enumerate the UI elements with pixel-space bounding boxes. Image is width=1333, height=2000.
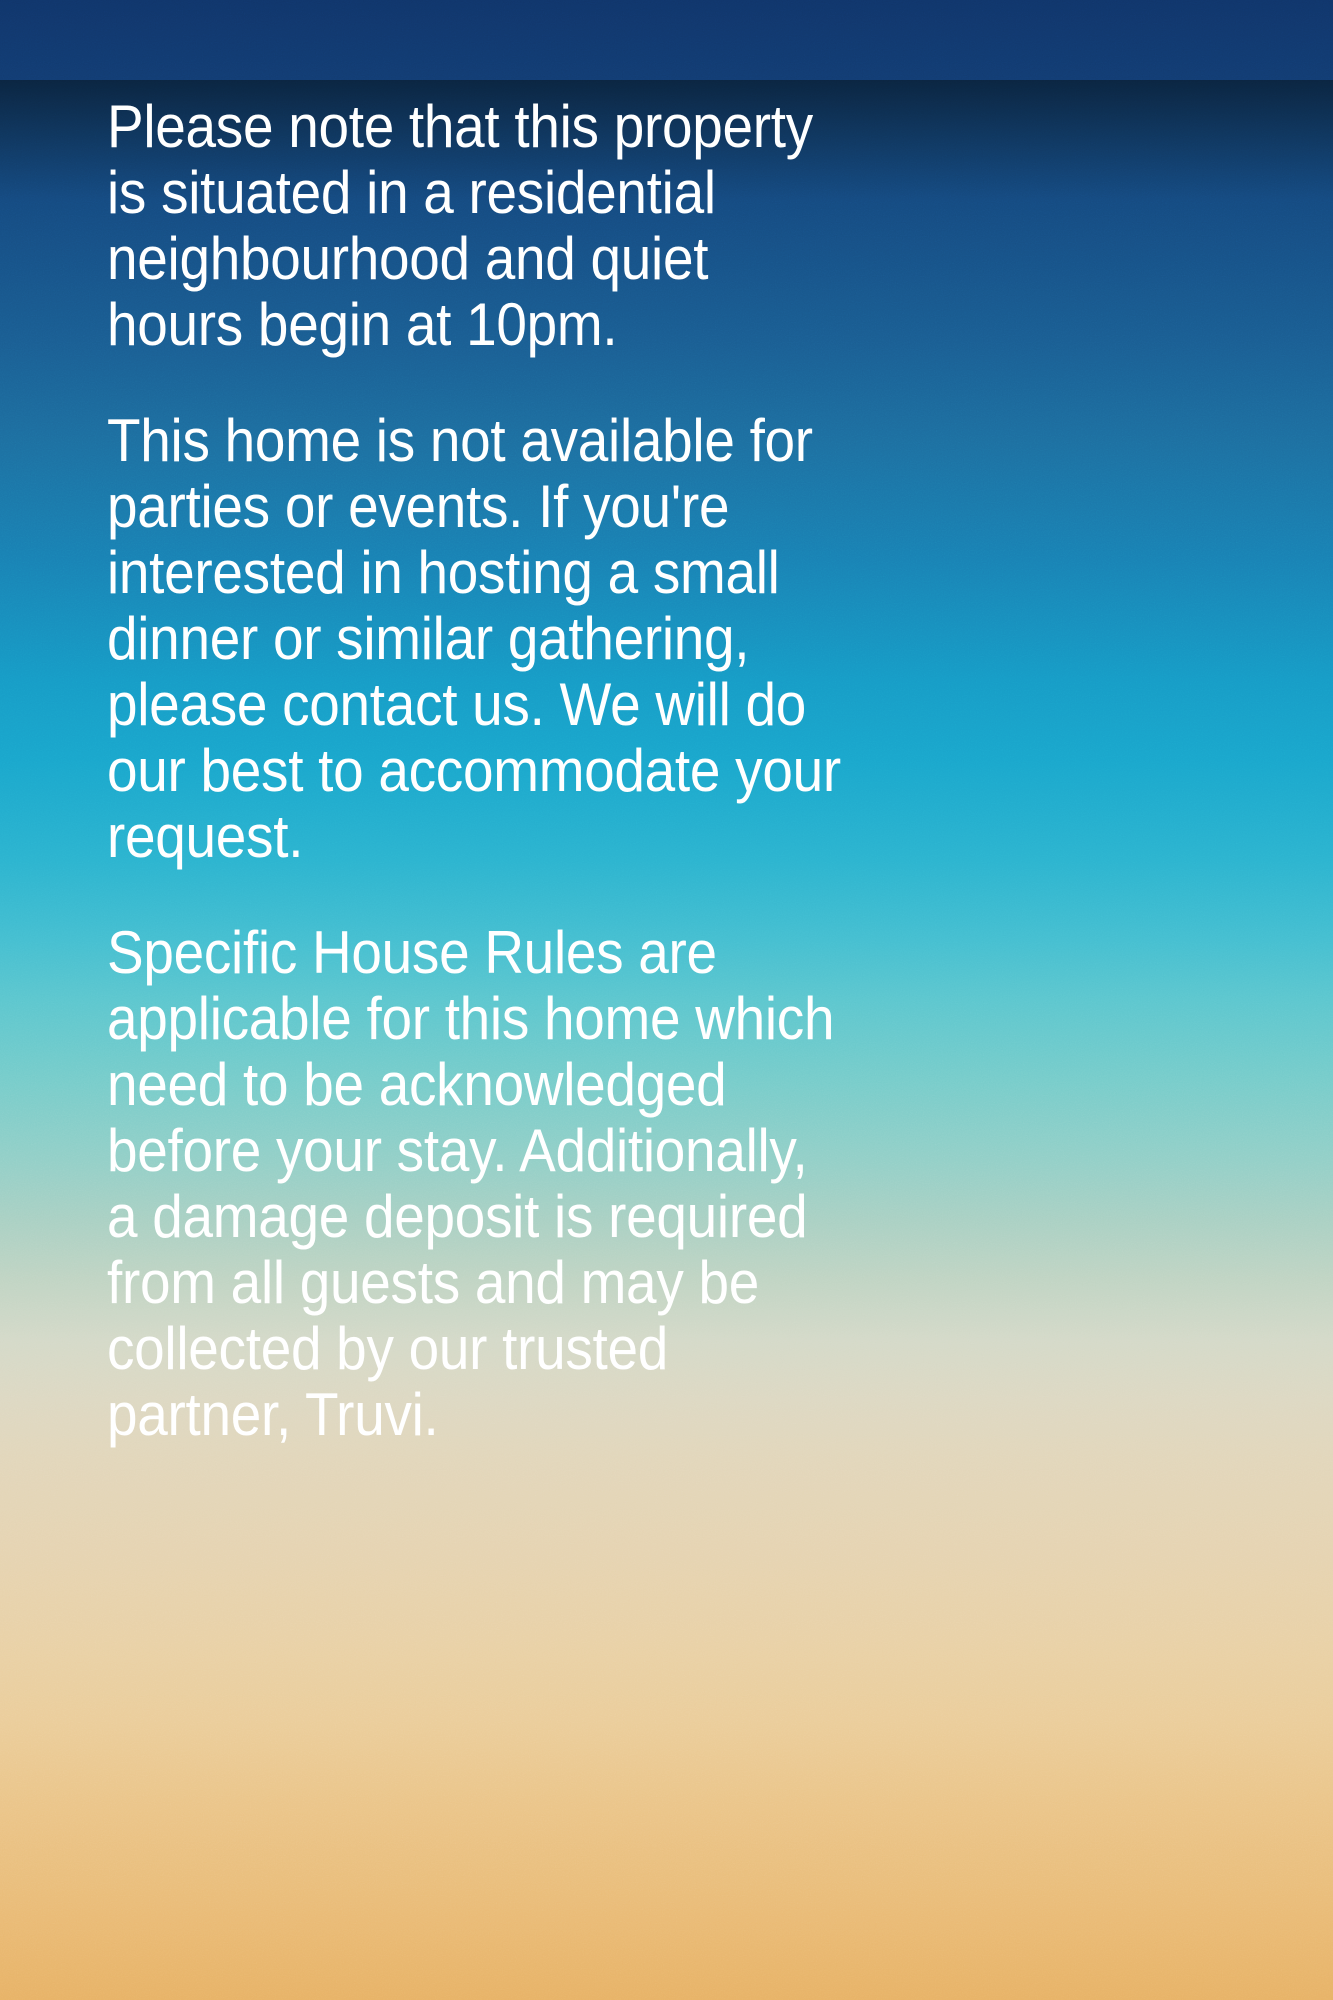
- notice-text-column: Please note that this property is situat…: [107, 94, 1267, 1448]
- notice-paragraph-no-parties: This home is not available for parties o…: [107, 408, 1168, 870]
- notice-paragraph-house-rules-deposit: Specific House Rules are applicable for …: [107, 920, 1168, 1448]
- notice-paragraph-quiet-hours: Please note that this property is situat…: [107, 94, 1168, 358]
- property-notice-card: Please note that this property is situat…: [0, 0, 1333, 2000]
